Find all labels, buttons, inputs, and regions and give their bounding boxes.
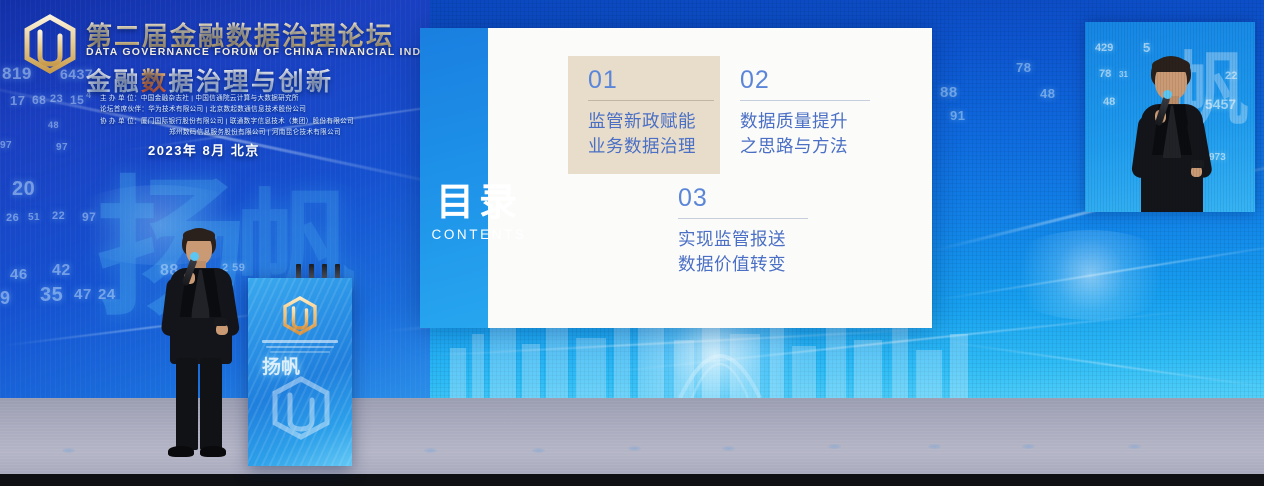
organizer-lines: 主 办 单 位：中国金融杂志社 | 中国信通院云计算与大数据研究所 论坛首席伙伴… (100, 93, 410, 138)
toc-divider (740, 100, 870, 101)
toc-divider (678, 218, 808, 219)
floor-marker (62, 448, 75, 453)
toc-divider (588, 100, 714, 101)
banner-title-en: DATA GOVERNANCE FORUM OF CHINA FINANCIAL… (86, 46, 463, 58)
arm-right (1186, 117, 1213, 179)
floor-marker (828, 444, 841, 449)
subtitle-part: 据治理与创新 (169, 68, 334, 96)
pip-number: 48 (1103, 96, 1115, 108)
branded-podium: 扬帆 (248, 278, 352, 466)
pip-number: 31 (1119, 70, 1128, 79)
slide-heading-cn: 目录 (420, 183, 544, 221)
torso (1141, 104, 1203, 212)
floor-marker (628, 446, 641, 451)
toc-line-1: 数据质量提升 (740, 110, 870, 135)
microphone-icon (1155, 96, 1171, 127)
floor-marker (424, 448, 437, 453)
hair-front (1152, 58, 1190, 72)
on-stage-speaker (150, 228, 260, 460)
floor-marker (532, 448, 545, 453)
microphone-head (1163, 90, 1172, 99)
hexagon-knot-logo-icon (22, 14, 78, 76)
inner-shirt (1163, 106, 1181, 158)
toc-line-2: 数据价值转变 (678, 253, 808, 278)
pip-number: 5457 (1205, 96, 1236, 112)
clicker-device (214, 318, 227, 326)
toc-item-01[interactable]: 01 监管新政赋能 业务数据治理 (588, 68, 714, 160)
toc-number: 03 (678, 186, 808, 211)
slide-heading-block: 目录 CONTENTS (420, 183, 544, 242)
event-banner: 第二届金融数据治理论坛 DATA GOVERNANCE FORUM OF CHI… (0, 0, 420, 175)
shoe-right (200, 446, 226, 457)
presentation-slide: 目录 CONTENTS 01 监管新政赋能 业务数据治理 02 数据质量提升 之… (420, 28, 932, 328)
podium-title-bar (266, 346, 334, 348)
lapel-right (1173, 105, 1193, 155)
toc-line-1: 监管新政赋能 (588, 110, 714, 135)
pip-speaker-figure (1129, 56, 1215, 212)
head (1155, 62, 1187, 100)
pip-number: 78 (1099, 68, 1111, 80)
pip-calligraphy: 帆 (1169, 26, 1249, 142)
subtitle-part: 金融 (86, 68, 141, 96)
speaker-camera-feed: 帆 429 5 78 31 22 48 5457 973 (1085, 22, 1255, 212)
toc-number: 01 (588, 68, 714, 93)
bottom-letterbox-bar (0, 474, 1264, 486)
toc-line-2: 之思路与方法 (740, 135, 870, 160)
clicker-device (1191, 160, 1204, 168)
subtitle-part-accent: 数 (141, 68, 169, 96)
pip-number: 429 (1095, 42, 1113, 54)
conference-stage-screenshot: 扬 帆 819 6437 17 68 23 15 4 48 20 26 51 2… (0, 0, 1264, 486)
pip-number: 973 (1209, 152, 1226, 163)
neck (1165, 96, 1179, 106)
toc-item-03[interactable]: 03 实现监管报送 数据价值转变 (678, 186, 808, 278)
podium-calligraphy: 扬帆 (262, 352, 300, 379)
podium-title-bar (262, 340, 338, 343)
hair-front (183, 229, 215, 241)
floor-marker (1022, 444, 1035, 449)
hair (1151, 56, 1191, 90)
arm-left (1131, 115, 1157, 179)
organizer-line: 论坛首席伙伴：华为技术有限公司 | 北京数起数通信息技术股份公司 (100, 104, 410, 115)
organizer-line: 主 办 单 位：中国金融杂志社 | 中国信通院云计算与大数据研究所 (100, 93, 410, 104)
pip-number: 22 (1225, 70, 1237, 82)
slide-heading-en: CONTENTS (420, 227, 544, 242)
toc-line-1: 实现监管报送 (678, 228, 808, 253)
floor-marker (928, 444, 941, 449)
shoe-left (168, 446, 194, 457)
hand-left (1155, 110, 1166, 123)
pip-number: 5 (1143, 40, 1150, 55)
lapel-left (1151, 105, 1171, 155)
toc-item-02[interactable]: 02 数据质量提升 之思路与方法 (740, 68, 870, 160)
slide-sidebar (420, 28, 488, 328)
floor-marker (1128, 444, 1141, 449)
hexagon-knot-logo-icon (282, 296, 318, 336)
podium-title-bar (270, 351, 330, 353)
organizer-line: 郑州数码信息服务股份有限公司 | 河南昆仑技术有限公司 (100, 127, 410, 138)
organizer-line: 协 办 单 位：厦门国际银行股份有限公司 | 联通数字信息技术（集团）股份有限公… (100, 116, 410, 127)
legs (200, 358, 222, 450)
banner-date-location: 2023年 8月 北京 (148, 140, 260, 159)
hand-right (1191, 166, 1202, 177)
microphone-head (190, 252, 199, 261)
floor-marker (722, 446, 735, 451)
toc-line-2: 业务数据治理 (588, 135, 714, 160)
toc-number: 02 (740, 68, 870, 93)
podium-watermark-hexagon-icon (270, 376, 332, 442)
legs (176, 358, 198, 450)
